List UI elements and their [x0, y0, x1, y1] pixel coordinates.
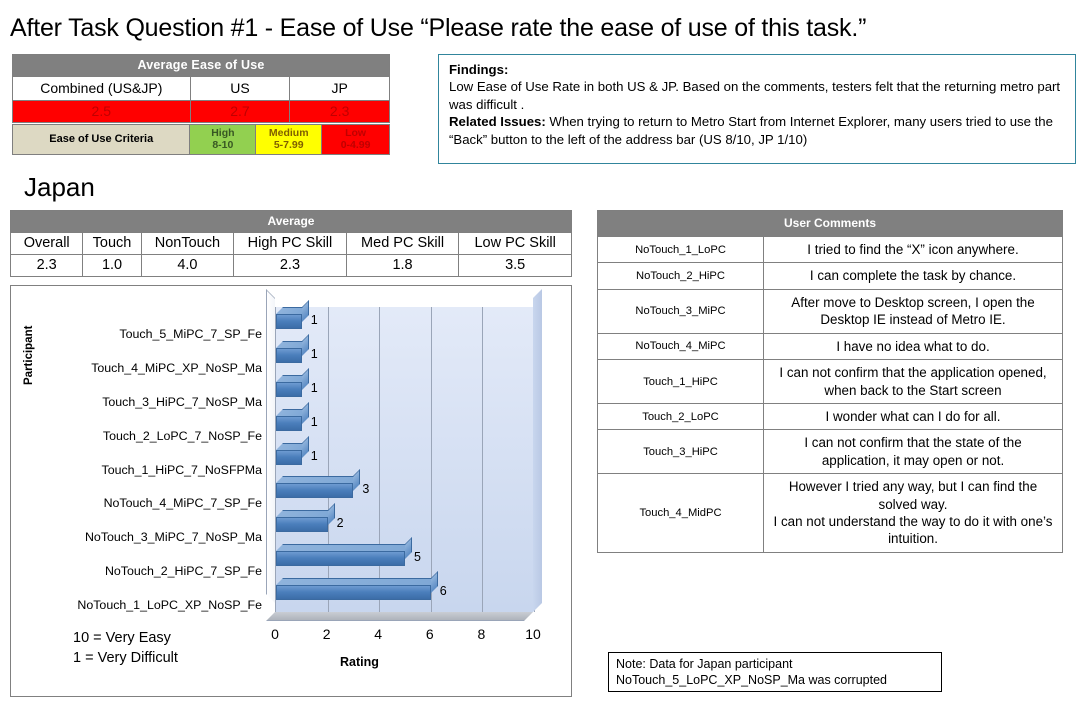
- chart-bar-row: 1: [276, 341, 533, 375]
- note-line-2: NoTouch_5_LoPC_XP_NoSP_Ma was corrupted: [616, 672, 934, 688]
- chart-category-label: Touch_4_MiPC_XP_NoSP_Ma: [40, 352, 268, 386]
- avg-value-low-pc-skill: 3.5: [459, 255, 572, 277]
- chart-bar: [276, 348, 302, 363]
- table-row: 2.5 2.7 2.3: [13, 101, 390, 123]
- chart-category-label: Touch_3_HiPC_7_NoSP_Ma: [40, 386, 268, 420]
- chart-bar-front-face: [276, 450, 302, 465]
- table-row: NoTouch_4_MiPCI have no idea what to do.: [598, 333, 1063, 359]
- chart-data-label: 1: [311, 313, 318, 327]
- avg-col-nontouch: NonTouch: [141, 233, 233, 255]
- chart-bar-front-face: [276, 382, 302, 397]
- chart-data-label: 1: [311, 415, 318, 429]
- chart-scale-note-line2: 1 = Very Difficult: [73, 649, 178, 669]
- chart-bar: [276, 382, 302, 397]
- findings-text: Low Ease of Use Rate in both US & JP. Ba…: [449, 78, 1065, 113]
- chart-bar-front-face: [276, 551, 405, 566]
- chart-bar-top-face: [276, 510, 335, 517]
- note-line-1: Note: Data for Japan participant: [616, 656, 934, 672]
- avg-col-touch: Touch: [83, 233, 141, 255]
- chart-x-tick-label: 10: [518, 626, 548, 642]
- chart-bar: [276, 483, 353, 498]
- criteria-high-name: High: [211, 127, 234, 139]
- chart-y-axis-tick-labels: Touch_5_MiPC_7_SP_FeTouch_4_MiPC_XP_NoSP…: [40, 318, 268, 623]
- table-row: NoTouch_1_LoPCI tried to find the “X” ic…: [598, 237, 1063, 263]
- comment-participant-id: Touch_4_MidPC: [598, 474, 764, 553]
- user-comments-header: User Comments: [598, 211, 1063, 237]
- chart-x-axis-title: Rating: [340, 655, 379, 669]
- chart-data-label: 5: [414, 550, 421, 564]
- avg-value-med-pc-skill: 1.8: [346, 255, 459, 277]
- section-heading-japan: Japan: [24, 172, 95, 203]
- chart-scale-note-line1: 10 = Very Easy: [73, 629, 178, 649]
- chart-data-label: 2: [337, 516, 344, 530]
- chart-bar-row: 2: [276, 510, 533, 544]
- chart-bar-row: 1: [276, 443, 533, 477]
- comment-text: After move to Desktop screen, I open the…: [764, 289, 1063, 333]
- comment-participant-id: NoTouch_2_HiPC: [598, 263, 764, 289]
- comment-text: I tried to find the “X” icon anywhere.: [764, 237, 1063, 263]
- ease-col-combined: Combined (US&JP): [13, 77, 191, 101]
- avg-value-touch: 1.0: [83, 255, 141, 277]
- criteria-band-medium: Medium 5-7.99: [256, 125, 322, 155]
- related-issues-label: Related Issues:: [449, 114, 546, 129]
- comment-participant-id: Touch_2_LoPC: [598, 403, 764, 429]
- table-row: Combined (US&JP) US JP: [13, 77, 390, 101]
- chart-bar-row: 6: [276, 578, 533, 612]
- user-comments-table: User Comments NoTouch_1_LoPCI tried to f…: [597, 210, 1063, 553]
- chart-plot-area: 111113256: [275, 307, 533, 612]
- chart-data-label: 6: [440, 584, 447, 598]
- avg-col-med-pc-skill: Med PC Skill: [346, 233, 459, 255]
- table-row: NoTouch_3_MiPCAfter move to Desktop scre…: [598, 289, 1063, 333]
- table-row: Overall Touch NonTouch High PC Skill Med…: [11, 233, 572, 255]
- table-row: 2.3 1.0 4.0 2.3 1.8 3.5: [11, 255, 572, 277]
- table-row: User Comments: [598, 211, 1063, 237]
- table-row: Ease of Use Criteria High 8-10 Medium 5-…: [13, 125, 390, 155]
- chart-data-label: 1: [311, 347, 318, 361]
- ease-of-use-criteria-table: Ease of Use Criteria High 8-10 Medium 5-…: [12, 124, 390, 155]
- chart-bar: [276, 416, 302, 431]
- chart-category-label: NoTouch_3_MiPC_7_NoSP_Ma: [40, 521, 268, 555]
- comment-participant-id: NoTouch_1_LoPC: [598, 237, 764, 263]
- criteria-medium-name: Medium: [269, 127, 309, 139]
- chart-bar-front-face: [276, 348, 302, 363]
- ease-col-jp: JP: [290, 77, 390, 101]
- ease-value-jp: 2.3: [290, 101, 390, 123]
- ease-table-header: Average Ease of Use: [13, 55, 390, 77]
- chart-data-label: 1: [311, 381, 318, 395]
- table-row: NoTouch_2_HiPCI can complete the task by…: [598, 263, 1063, 289]
- chart-bar-top-face: [276, 544, 412, 551]
- chart-bar-front-face: [276, 416, 302, 431]
- chart-bar-row: 1: [276, 409, 533, 443]
- chart-x-tick-label: 6: [415, 626, 445, 642]
- chart-bar: [276, 551, 405, 566]
- table-row: Average Ease of Use: [13, 55, 390, 77]
- chart-category-label: Touch_5_MiPC_7_SP_Fe: [40, 318, 268, 352]
- comment-text: I can not confirm that the application o…: [764, 360, 1063, 404]
- comment-participant-id: Touch_3_HiPC: [598, 430, 764, 474]
- average-ease-of-use-table: Average Ease of Use Combined (US&JP) US …: [12, 54, 390, 123]
- chart-bar-row: 1: [276, 307, 533, 341]
- chart-bar: [276, 450, 302, 465]
- comment-text: I can complete the task by chance.: [764, 263, 1063, 289]
- data-corruption-note: Note: Data for Japan participant NoTouch…: [608, 652, 942, 692]
- avg-value-high-pc-skill: 2.3: [234, 255, 347, 277]
- avg-col-high-pc-skill: High PC Skill: [234, 233, 347, 255]
- avg-col-low-pc-skill: Low PC Skill: [459, 233, 572, 255]
- findings-box: Findings: Low Ease of Use Rate in both U…: [438, 54, 1076, 164]
- table-row: Average: [11, 211, 572, 233]
- chart-bar-side-face: [353, 469, 360, 491]
- comment-participant-id: Touch_1_HiPC: [598, 360, 764, 404]
- criteria-band-high: High 8-10: [190, 125, 256, 155]
- table-row: Touch_2_LoPCI wonder what can I do for a…: [598, 403, 1063, 429]
- chart-3d-left-wall: [266, 289, 275, 603]
- ease-value-combined: 2.5: [13, 101, 191, 123]
- chart-bar: [276, 517, 328, 532]
- chart-3d-right-wall: [533, 289, 542, 612]
- chart-bar-front-face: [276, 585, 431, 600]
- chart-scale-note: 10 = Very Easy 1 = Very Difficult: [73, 629, 178, 668]
- findings-label: Findings:: [449, 61, 1065, 78]
- criteria-label: Ease of Use Criteria: [13, 125, 190, 155]
- avg-table-header: Average: [11, 211, 572, 233]
- table-row: Touch_4_MidPCHowever I tried any way, bu…: [598, 474, 1063, 553]
- chart-bar-front-face: [276, 517, 328, 532]
- criteria-high-range: 8-10: [212, 139, 233, 151]
- chart-bar: [276, 314, 302, 329]
- criteria-low-range: 0-4.99: [341, 139, 371, 151]
- chart-category-label: NoTouch_2_HiPC_7_SP_Fe: [40, 555, 268, 589]
- table-row: Touch_3_HiPCI can not confirm that the s…: [598, 430, 1063, 474]
- avg-col-overall: Overall: [11, 233, 83, 255]
- criteria-medium-range: 5-7.99: [274, 139, 304, 151]
- chart-bar-top-face: [276, 476, 360, 483]
- chart-bar-row: 5: [276, 544, 533, 578]
- chart-y-axis-title: Participant: [23, 326, 35, 385]
- chart-data-label: 1: [311, 449, 318, 463]
- comment-text: I can not confirm that the state of the …: [764, 430, 1063, 474]
- chart-category-label: Touch_1_HiPC_7_NoSFPMa: [40, 454, 268, 488]
- comment-participant-id: NoTouch_3_MiPC: [598, 289, 764, 333]
- avg-value-nontouch: 4.0: [141, 255, 233, 277]
- japan-average-table: Average Overall Touch NonTouch High PC S…: [10, 210, 572, 277]
- comment-text: However I tried any way, but I can find …: [764, 474, 1063, 553]
- avg-value-overall: 2.3: [11, 255, 83, 277]
- chart-bar-front-face: [276, 483, 353, 498]
- chart-bar-row: 1: [276, 375, 533, 409]
- chart-x-tick-label: 8: [466, 626, 496, 642]
- comment-text: I have no idea what to do.: [764, 333, 1063, 359]
- chart-category-label: Touch_2_LoPC_7_NoSP_Fe: [40, 420, 268, 454]
- chart-category-label: NoTouch_1_LoPC_XP_NoSP_Fe: [40, 589, 268, 623]
- slide-page: After Task Question #1 - Ease of Use “Pl…: [0, 0, 1083, 704]
- ease-col-us: US: [190, 77, 290, 101]
- criteria-band-low: Low 0-4.99: [322, 125, 390, 155]
- chart-bar-top-face: [276, 578, 438, 585]
- chart-x-tick-label: 4: [363, 626, 393, 642]
- comment-text: I wonder what can I do for all.: [764, 403, 1063, 429]
- table-row: Touch_1_HiPCI can not confirm that the a…: [598, 360, 1063, 404]
- chart-bar: [276, 585, 431, 600]
- chart-3d-floor: [266, 612, 533, 621]
- comment-participant-id: NoTouch_4_MiPC: [598, 333, 764, 359]
- ease-value-us: 2.7: [190, 101, 290, 123]
- page-title: After Task Question #1 - Ease of Use “Pl…: [10, 14, 866, 43]
- chart-category-label: NoTouch_4_MiPC_7_SP_Fe: [40, 487, 268, 521]
- chart-bar-front-face: [276, 314, 302, 329]
- chart-bar-row: 3: [276, 476, 533, 510]
- related-issues-paragraph: Related Issues: When trying to return to…: [449, 113, 1065, 148]
- chart-x-tick-label: 2: [312, 626, 342, 642]
- chart-data-label: 3: [362, 482, 369, 496]
- chart-x-tick-label: 0: [260, 626, 290, 642]
- criteria-low-name: Low: [345, 127, 366, 139]
